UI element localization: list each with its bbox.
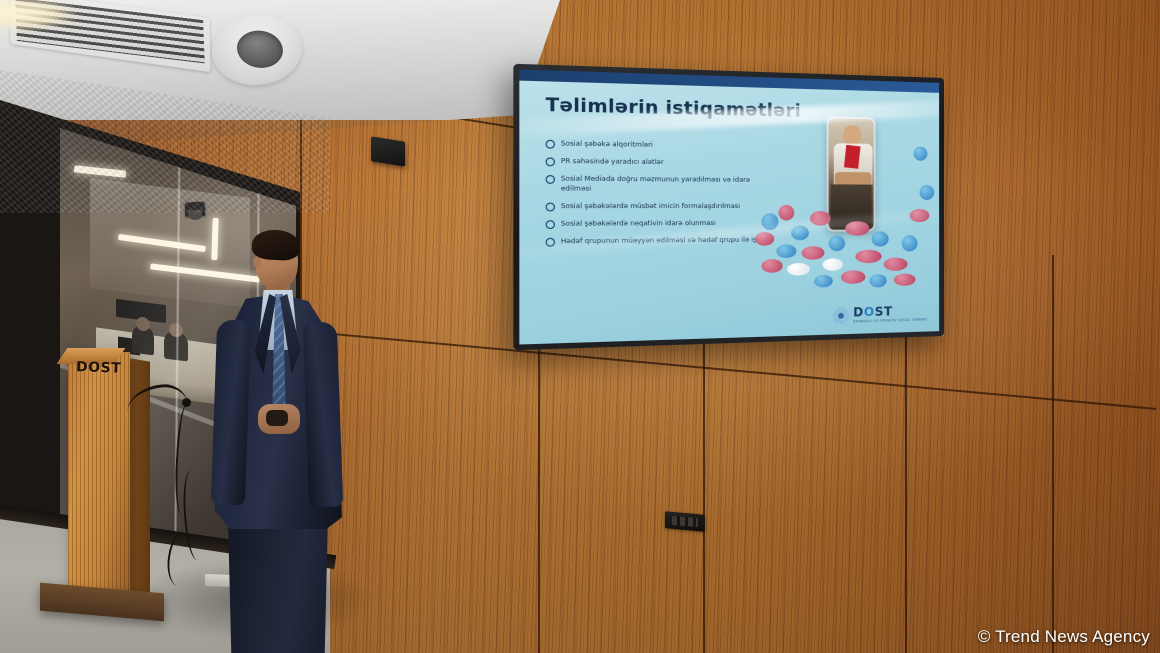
dost-logo-accent: O xyxy=(864,305,875,320)
bullet-dot-icon xyxy=(546,203,555,212)
dost-logo-prefix: D xyxy=(853,305,864,320)
ceiling-light-glow xyxy=(0,0,80,32)
bullet-label: Sosial Mediada doğru məzmunun yaradılmas… xyxy=(561,174,770,194)
like-icon xyxy=(870,274,887,288)
bullet-dot-icon xyxy=(546,220,555,229)
like-icon xyxy=(829,236,845,252)
like-icon xyxy=(902,235,918,251)
wall-speaker-icon xyxy=(371,136,405,166)
presenter-arm-right xyxy=(303,321,343,507)
bullet-dot-icon xyxy=(546,175,555,184)
presenter xyxy=(206,228,346,628)
bullet-dot-icon xyxy=(546,157,555,166)
slide-artwork xyxy=(749,108,934,308)
dost-logo-suffix: ST xyxy=(875,304,893,319)
podium xyxy=(68,352,130,598)
presenter-hair xyxy=(251,229,301,261)
podium-wood-grain xyxy=(68,352,130,598)
dost-logo-subtitle: DAYANIQLI VƏ OPERATİV SOSİAL TƏMİNAT xyxy=(853,317,927,323)
heart-icon xyxy=(884,257,908,271)
dost-logo: DOST DAYANIQLI VƏ OPERATİV SOSİAL TƏMİNA… xyxy=(833,304,928,324)
like-icon xyxy=(814,275,833,288)
presenter-held-object xyxy=(266,410,288,426)
screenshot-scene: DOST Təlimlərin istiqamətləri xyxy=(0,0,1160,653)
wall-power-socket-icon xyxy=(665,511,705,531)
presenter-arm-left xyxy=(211,319,251,505)
like-icon xyxy=(919,185,934,200)
dost-wordmark: DOST xyxy=(853,304,927,318)
heart-icon xyxy=(894,273,916,286)
heart-icon xyxy=(761,259,782,273)
heart-icon xyxy=(778,205,794,221)
wall-mounted-tv[interactable]: Təlimlərin istiqamətləri Sosial şəbəkə a… xyxy=(513,64,944,351)
watermark: © Trend News Agency xyxy=(978,627,1150,647)
bullet-label: Sosial şəbəkə alqoritmləri xyxy=(561,139,653,150)
reaction-icon xyxy=(787,263,810,276)
bullet-label: PR sahəsində yaradıcı alətlər xyxy=(561,156,664,167)
list-item: Sosial şəbəkə alqoritmləri xyxy=(546,139,770,152)
list-item: PR sahəsində yaradıcı alətlər xyxy=(546,156,770,168)
list-item: Sosial şəbəkələrdə müsbət imicin formala… xyxy=(546,201,770,211)
reaction-icon xyxy=(822,258,843,271)
heart-icon xyxy=(841,270,865,284)
phone-person-strap xyxy=(844,145,861,169)
wall-seam-vertical xyxy=(1052,255,1054,653)
podium-logo: DOST xyxy=(76,359,122,377)
heart-icon xyxy=(855,250,881,264)
dost-emblem-icon xyxy=(833,307,849,324)
heart-icon xyxy=(802,246,825,260)
list-item: Sosial Mediada doğru məzmunun yaradılmas… xyxy=(546,174,770,195)
bullet-label: Sosial şəbəkələrdə müsbət imicin formala… xyxy=(561,202,740,212)
bullet-label: Sosial şəbəkələrdə neqativin idarə olunm… xyxy=(561,219,716,229)
like-icon xyxy=(872,231,889,246)
like-icon xyxy=(776,244,796,258)
presenter-trousers xyxy=(226,520,330,653)
like-icon xyxy=(914,147,928,161)
tv-screen[interactable]: Təlimlərin istiqamətləri Sosial şəbəkə a… xyxy=(519,69,939,344)
bullet-dot-icon xyxy=(546,140,555,149)
ceiling-speaker-cone xyxy=(234,27,285,71)
